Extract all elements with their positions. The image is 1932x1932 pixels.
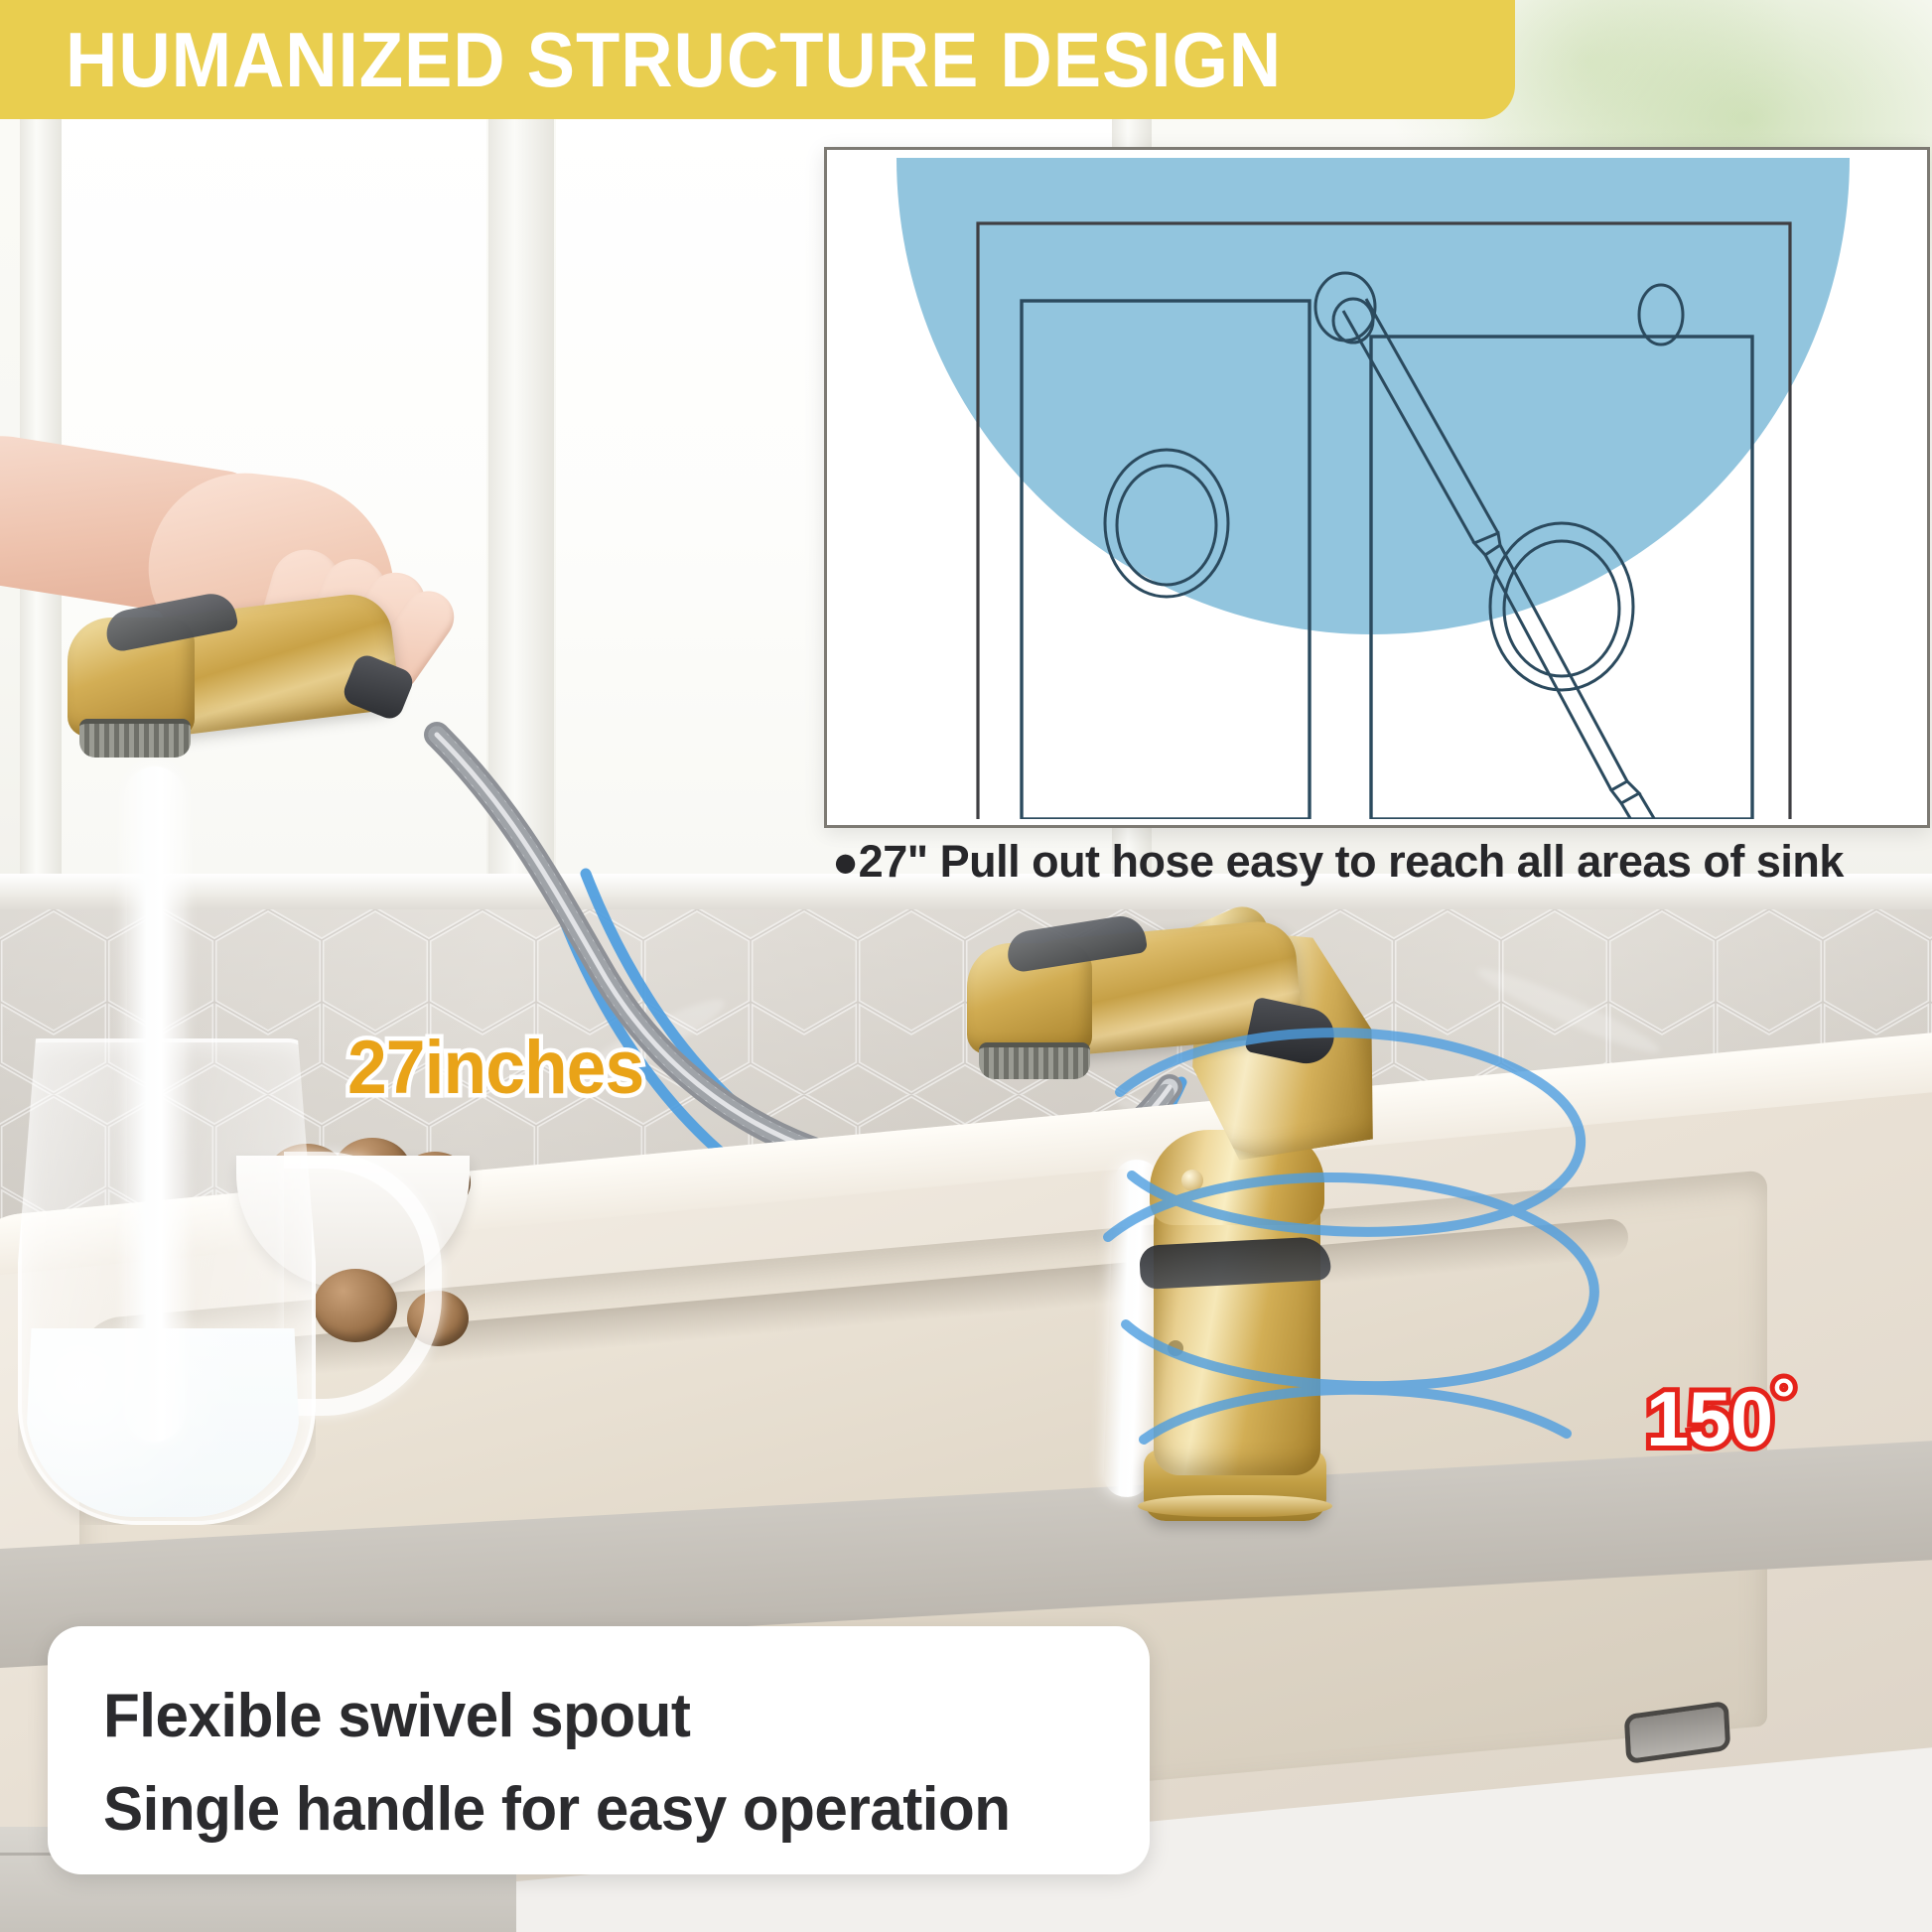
- feature-line-2: Single handle for easy operation: [103, 1763, 1118, 1857]
- swivel-angle-label: 150°: [1646, 1366, 1794, 1464]
- faucet-base-ring: [1138, 1495, 1332, 1517]
- feature-callout-card: Flexible swivel spout Single handle for …: [48, 1626, 1150, 1874]
- water-stream-left: [127, 766, 183, 1442]
- swivel-angle-value: 150: [1646, 1375, 1772, 1462]
- reach-coverage-diagram: [824, 147, 1930, 828]
- reach-zone-shape: [897, 158, 1850, 634]
- diagram-caption: ●27" Pull out hose easy to reach all are…: [832, 832, 1930, 892]
- spray-head-neck: [1244, 997, 1339, 1069]
- aerator-screen: [979, 1042, 1090, 1079]
- degree-symbol: °: [1772, 1367, 1794, 1432]
- header-banner: HUMANIZED STRUCTURE DESIGN: [0, 0, 1515, 119]
- handle-screw: [1181, 1170, 1203, 1191]
- page-title: HUMANIZED STRUCTURE DESIGN: [66, 21, 1282, 98]
- infographic-canvas: ●27" Pull out hose easy to reach all are…: [0, 0, 1932, 1932]
- pull-out-spray-head-detached: [68, 608, 395, 757]
- kitchen-faucet: [1130, 943, 1557, 1559]
- aerator-screen: [79, 719, 191, 758]
- hose-length-label: 27inches: [347, 1025, 643, 1111]
- docked-spray-head: [961, 905, 1338, 1094]
- feature-line-1: Flexible swivel spout: [103, 1670, 1118, 1763]
- body-pinhole: [1168, 1340, 1183, 1356]
